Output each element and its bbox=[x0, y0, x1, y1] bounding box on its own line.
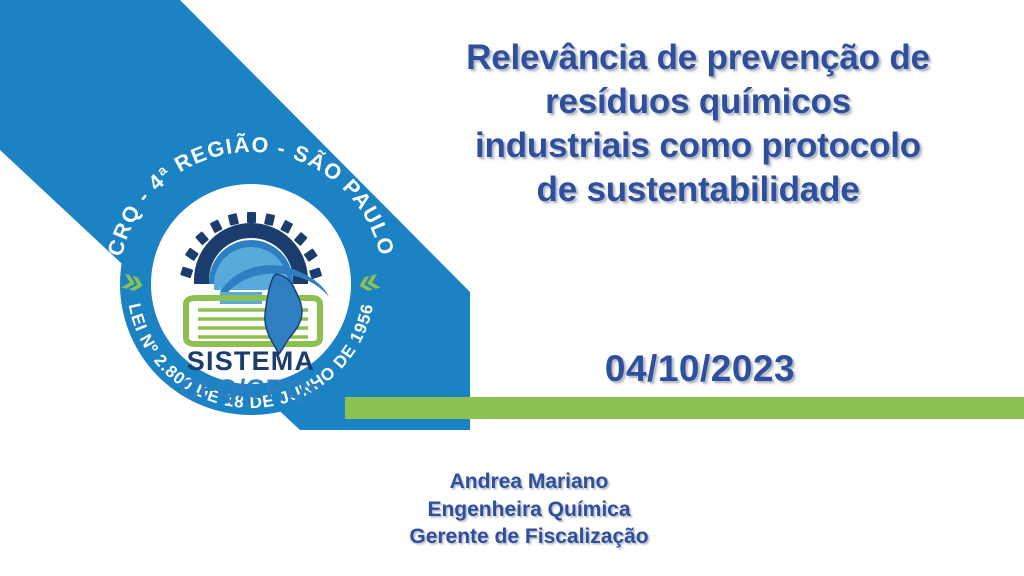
title-line-1: Relevância de prevenção de bbox=[378, 36, 1018, 80]
date-value: 04/10/2023 bbox=[400, 348, 1000, 390]
crq-logo-svg: CRQ - 4ª REGIÃO - SÃO PAULO LEI Nº 2.800… bbox=[86, 132, 416, 420]
slide-title: Relevância de prevenção de resíduos quím… bbox=[378, 36, 1018, 212]
green-accent-bar bbox=[345, 397, 1024, 419]
logo-wordmark-line2: CFQ/CRQs bbox=[180, 374, 323, 404]
author-role: Gerente de Fiscalização bbox=[229, 523, 829, 551]
crq-logo: CRQ - 4ª REGIÃO - SÃO PAULO LEI Nº 2.800… bbox=[86, 132, 416, 420]
title-slide: CRQ - 4ª REGIÃO - SÃO PAULO LEI Nº 2.800… bbox=[0, 0, 1024, 576]
author-name: Andrea Mariano bbox=[229, 468, 829, 496]
slide-date: 04/10/2023 bbox=[400, 348, 1000, 390]
logo-wordmark-line1: SISTEMA bbox=[187, 346, 315, 376]
title-line-2: resíduos químicos bbox=[378, 80, 1018, 124]
slide-author: Andrea Mariano Engenheira Química Gerent… bbox=[229, 468, 829, 551]
title-line-3: industriais como protocolo bbox=[378, 124, 1018, 168]
title-line-4: de sustentabilidade bbox=[378, 168, 1018, 212]
author-profession: Engenheira Química bbox=[229, 496, 829, 524]
